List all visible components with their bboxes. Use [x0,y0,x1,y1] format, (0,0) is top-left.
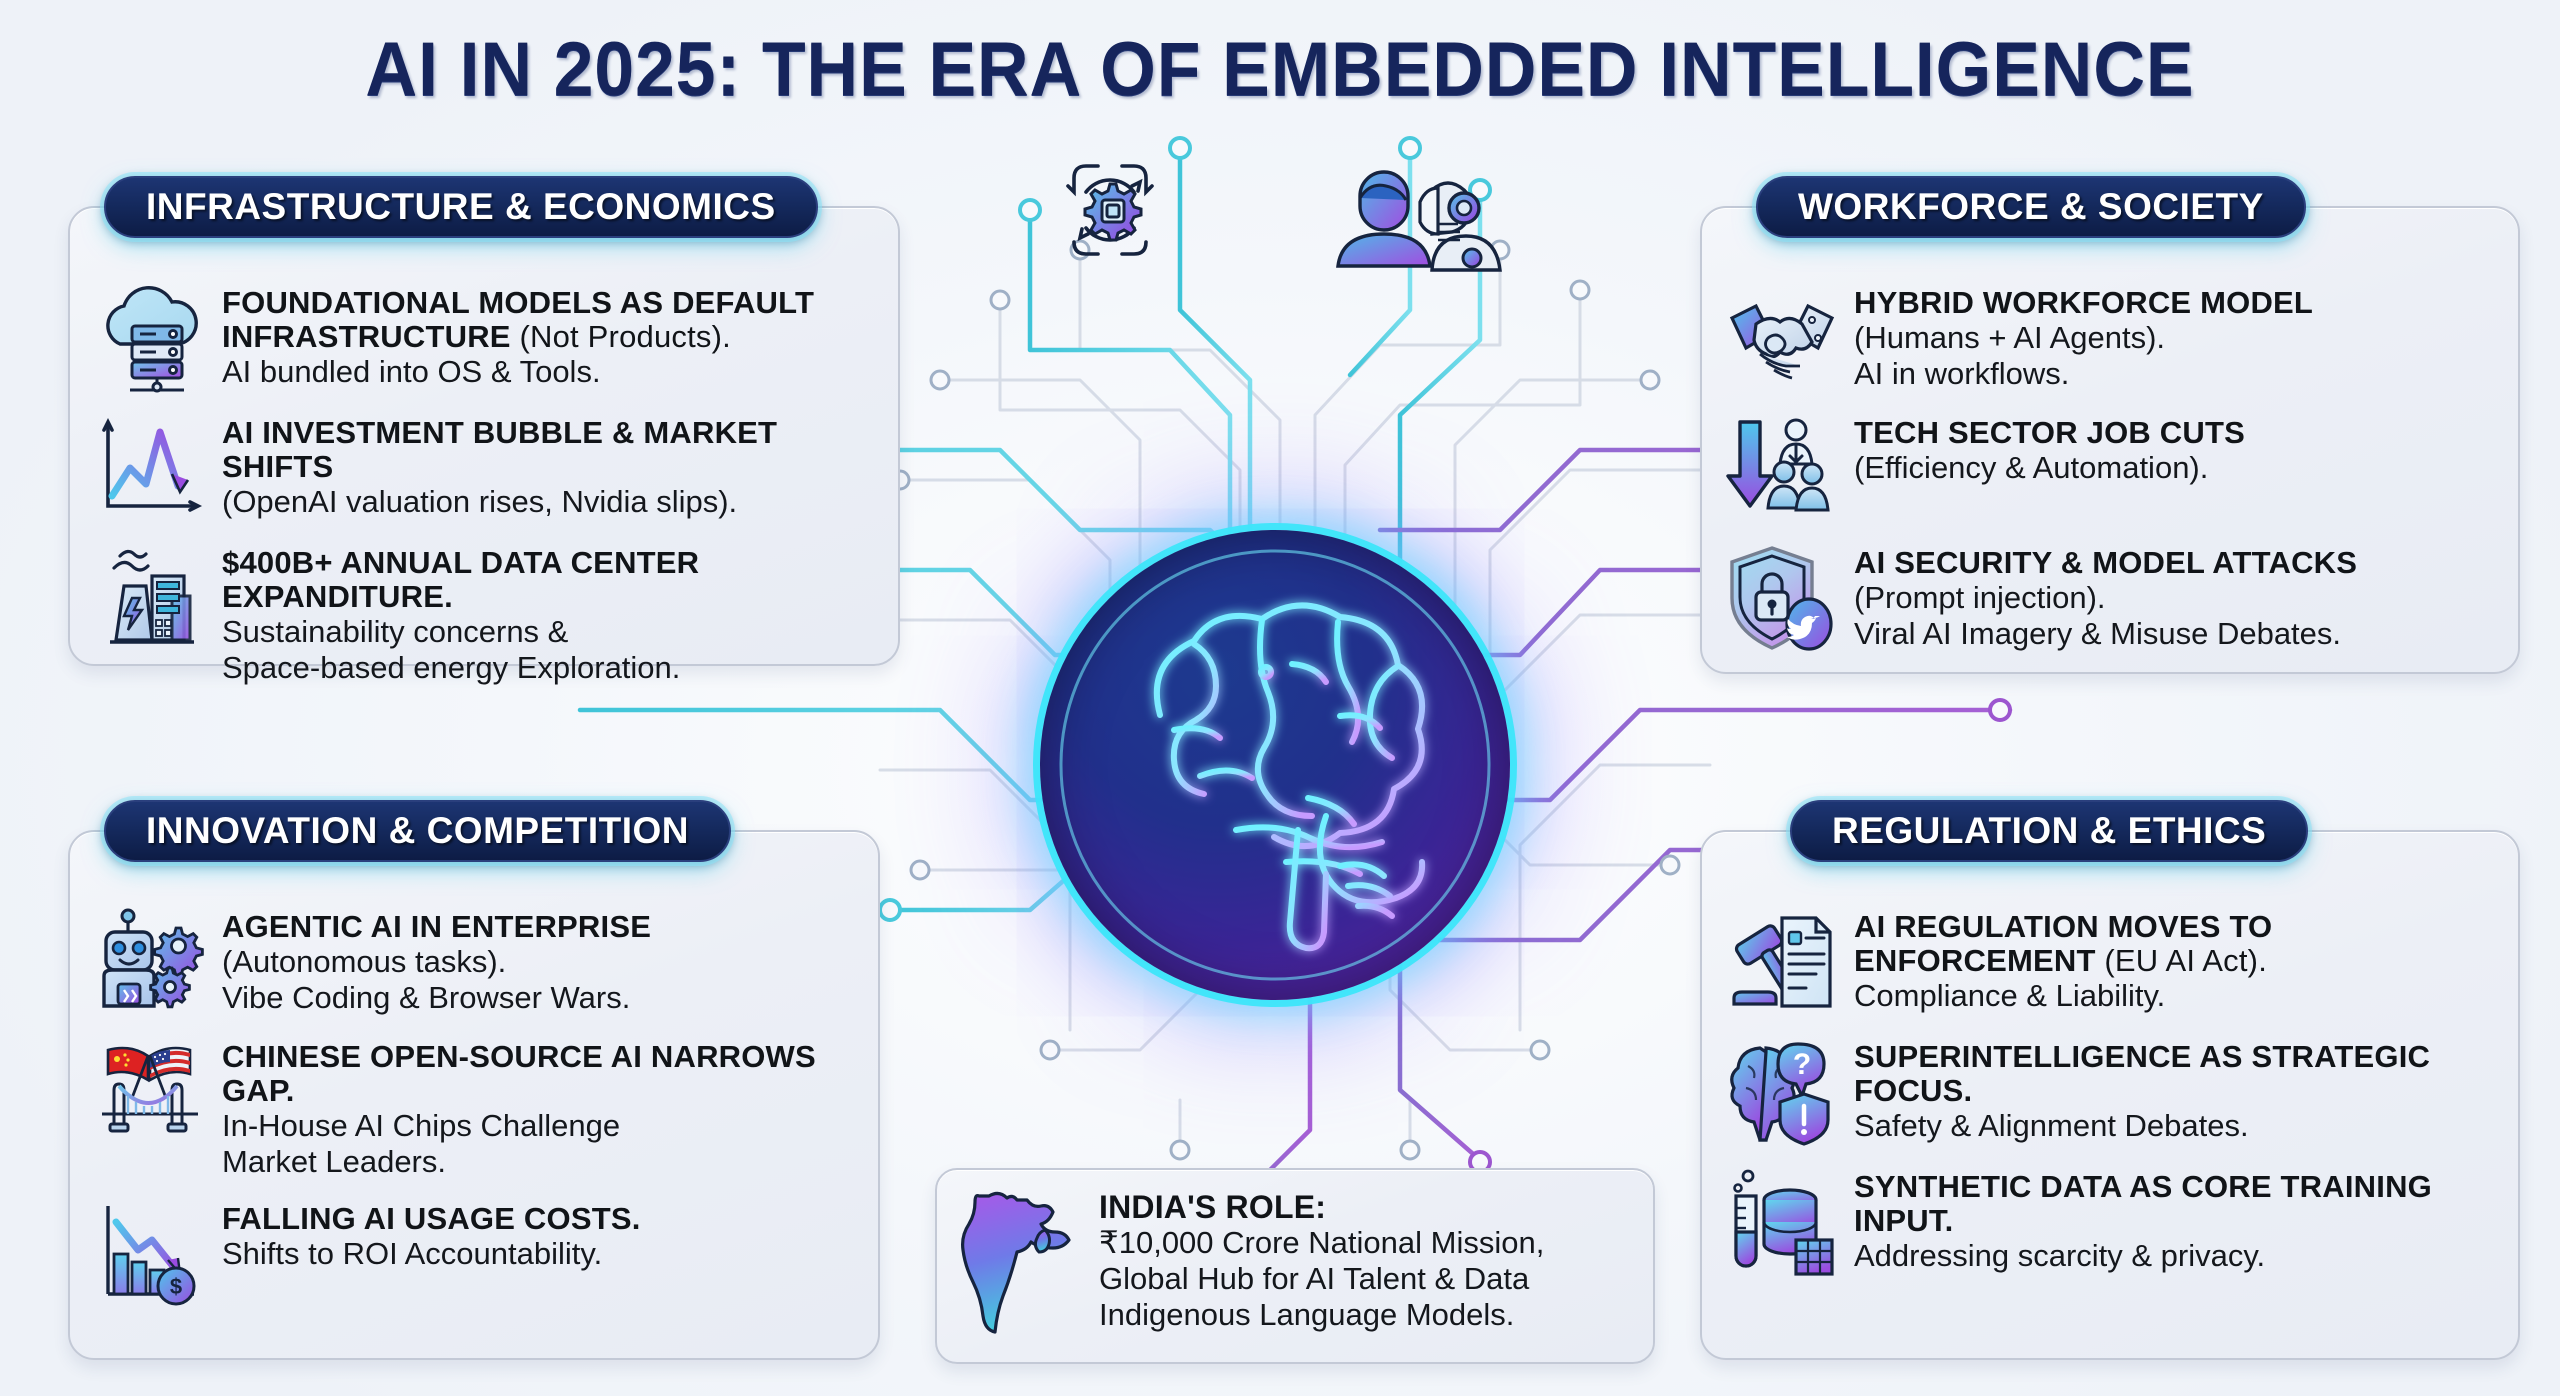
panel-heading-regulation: REGULATION & ETHICS [1790,800,2308,862]
item-sub: ₹10,000 Crore National Mission, Global H… [1099,1225,1544,1333]
list-item: SYNTHETIC DATA AS CORE TRAINING INPUT. A… [1726,1166,2492,1278]
item-heading: FALLING AI USAGE COSTS. [222,1201,641,1236]
list-item: AI REGULATION MOVES TO ENFORCEMENT (EU A… [1726,906,2492,1018]
ai-brain-orb-icon [1040,530,1510,1000]
item-sub: (Prompt injection). Viral AI Imagery & M… [1854,580,2357,652]
item-sub: AI bundled into OS & Tools. [222,354,872,390]
human-robot-pair-icon [1338,172,1500,270]
item-heading: INDIA'S ROLE: [1099,1190,1544,1225]
item-heading: AI SECURITY & MODEL ATTACKS [1854,545,2357,580]
india-map-icon [953,1186,1083,1336]
item-heading: AGENTIC AI IN ENTERPRISE [222,909,651,944]
list-item: AI SECURITY & MODEL ATTACKS (Prompt inje… [1726,542,2492,654]
panel-workforce-society: HYBRID WORKFORCE MODEL (Humans + AI Agen… [1700,206,2520,674]
svg-text:?: ? [1793,1048,1811,1081]
item-sub: (Efficiency & Automation). [1854,450,2245,486]
brain-question-shield-icon: ? [1726,1036,1838,1148]
svg-text:$: $ [170,1274,182,1299]
center-top-icons [1060,150,1560,270]
panel-heading-innovation: INNOVATION & COMPETITION [104,800,731,862]
item-heading-tail: (EU AI Act). [2096,943,2267,978]
falling-cost-chart-icon: $ [94,1198,206,1310]
robot-gears-icon [94,906,206,1018]
item-sub: Sustainability concerns & Space-based en… [222,614,872,686]
panel-india-role: INDIA'S ROLE: ₹10,000 Crore National Mis… [935,1168,1655,1364]
item-heading: HYBRID WORKFORCE MODEL [1854,285,2313,320]
shield-lock-social-icon [1726,542,1838,654]
item-sub: (Autonomous tasks). Vibe Coding & Browse… [222,944,651,1016]
panel-heading-infrastructure: INFRASTRUCTURE & ECONOMICS [104,176,818,238]
item-sub: (OpenAI valuation rises, Nvidia slips). [222,484,872,520]
panel-infrastructure-economics: FOUNDATIONAL MODELS AS DEFAULT INFRASTRU… [68,206,900,666]
handshake-icon [1726,282,1838,394]
item-sub: Safety & Alignment Debates. [1854,1108,2492,1144]
flags-bridge-icon [94,1036,206,1148]
item-sub: In-House AI Chips Challenge Market Leade… [222,1108,852,1180]
volatile-chart-icon [94,412,206,524]
item-heading: $400B+ ANNUAL DATA CENTER EXPANDITURE. [222,545,699,614]
panel-heading-workforce: WORKFORCE & SOCIETY [1756,176,2306,238]
list-item: ? SUPERINTELLIGENCE AS STRATEGIC FOCUS. … [1726,1036,2492,1148]
item-sub: Compliance & Liability. [1854,978,2492,1014]
test-tube-database-icon [1726,1166,1838,1278]
item-sub: Addressing scarcity & privacy. [1854,1238,2492,1274]
down-arrow-people-icon [1726,412,1838,524]
list-item: CHINESE OPEN-SOURCE AI NARROWS GAP. In-H… [94,1036,852,1180]
item-heading-tail: (Not Products). [511,319,731,354]
item-sub: (Humans + AI Agents). AI in workflows. [1854,320,2313,392]
list-item: FOUNDATIONAL MODELS AS DEFAULT INFRASTRU… [94,282,872,394]
list-item: $400B+ ANNUAL DATA CENTER EXPANDITURE. S… [94,542,872,686]
item-heading: TECH SECTOR JOB CUTS [1854,415,2245,450]
infographic-canvas: AI IN 2025: THE ERA OF EMBEDDED INTELLIG… [0,0,2560,1396]
item-sub: Shifts to ROI Accountability. [222,1236,641,1272]
power-plant-icon [94,542,206,654]
gavel-document-icon [1726,906,1838,1018]
list-item: $ FALLING AI USAGE COSTS. Shifts to ROI … [94,1198,852,1310]
item-heading: CHINESE OPEN-SOURCE AI NARROWS GAP. [222,1039,816,1108]
page-title: AI IN 2025: THE ERA OF EMBEDDED INTELLIG… [77,26,2483,113]
gear-chip-body [1085,184,1141,240]
item-heading: SYNTHETIC DATA AS CORE TRAINING INPUT. [1854,1169,2432,1238]
cloud-server-icon [94,282,206,394]
list-item: AI INVESTMENT BUBBLE & MARKET SHIFTS (Op… [94,412,872,524]
list-item: AGENTIC AI IN ENTERPRISE (Autonomous tas… [94,906,852,1018]
item-heading: AI INVESTMENT BUBBLE & MARKET SHIFTS [222,415,777,484]
list-item: TECH SECTOR JOB CUTS (Efficiency & Autom… [1726,412,2492,524]
panel-innovation-competition: AGENTIC AI IN ENTERPRISE (Autonomous tas… [68,830,880,1360]
list-item: INDIA'S ROLE: ₹10,000 Crore National Mis… [953,1186,1635,1336]
panel-regulation-ethics: AI REGULATION MOVES TO ENFORCEMENT (EU A… [1700,830,2520,1360]
list-item: HYBRID WORKFORCE MODEL (Humans + AI Agen… [1726,282,2492,394]
item-heading: SUPERINTELLIGENCE AS STRATEGIC FOCUS. [1854,1039,2430,1108]
